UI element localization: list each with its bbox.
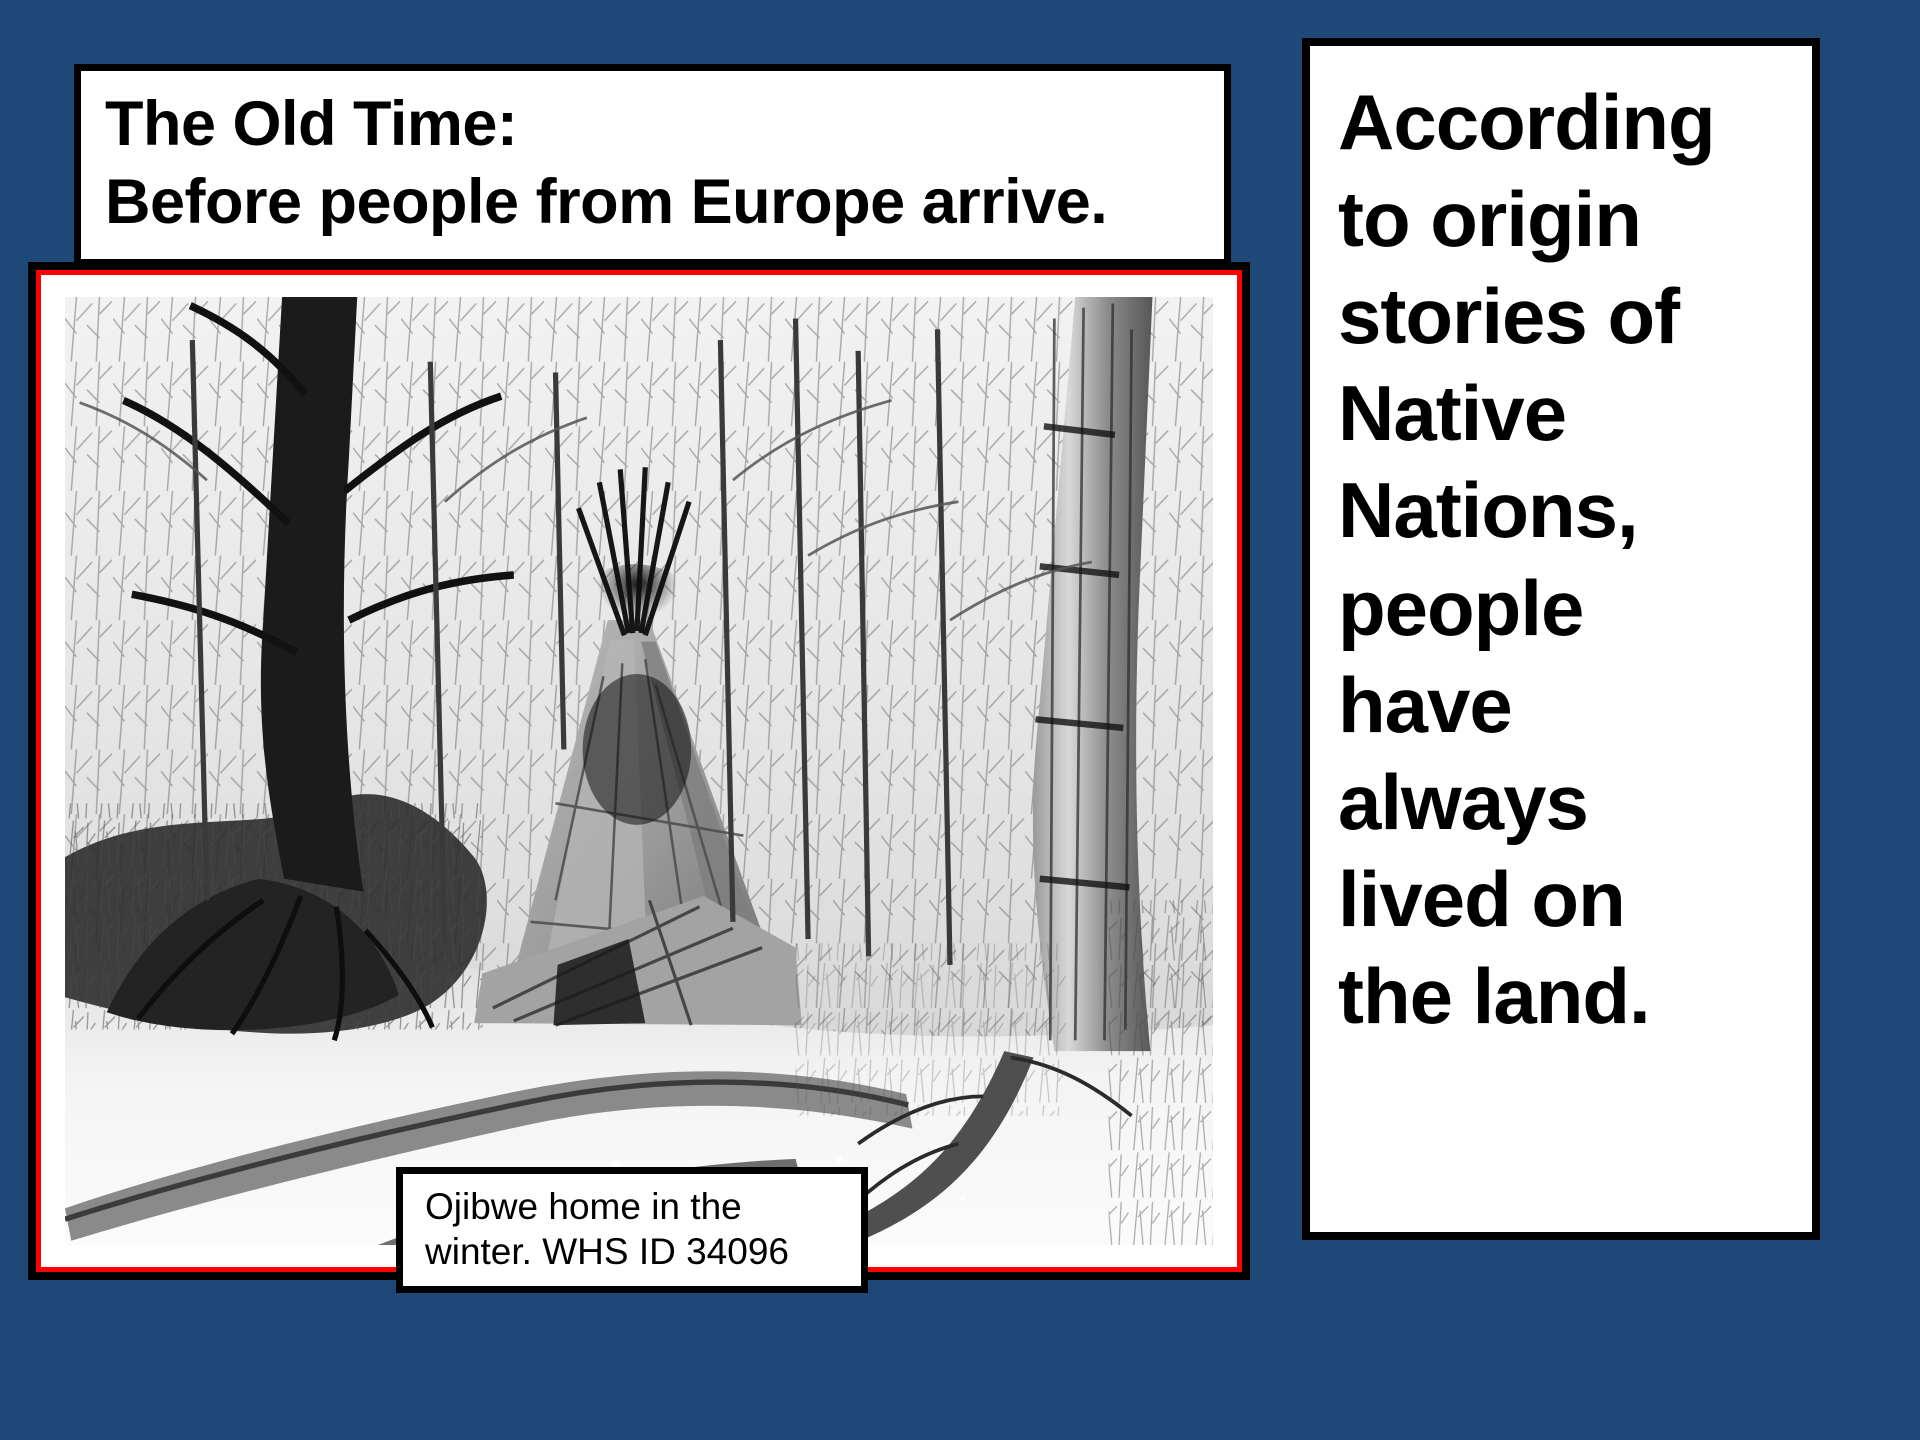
- title-text-box: The Old Time: Before people from Europe …: [74, 64, 1231, 266]
- right-panel-line-6: people: [1338, 560, 1792, 657]
- title-line-1: The Old Time:: [105, 85, 1200, 163]
- winter-forest-wigwam-illustration: [65, 297, 1213, 1245]
- historical-photograph: [65, 297, 1213, 1245]
- right-panel-line-1: According: [1338, 74, 1792, 171]
- right-panel-line-4: Native: [1338, 365, 1792, 462]
- right-panel-line-8: always: [1338, 754, 1792, 851]
- photo-panel: [28, 262, 1250, 1280]
- photo-caption-box: Ojibwe home in the winter. WHS ID 34096: [396, 1167, 868, 1293]
- right-panel-line-10: the land.: [1338, 948, 1792, 1045]
- title-line-2: Before people from Europe arrive.: [105, 163, 1200, 241]
- caption-line-1: Ojibwe home in the: [425, 1184, 845, 1229]
- slide-canvas: The Old Time: Before people from Europe …: [0, 0, 1920, 1440]
- right-panel-line-2: to origin: [1338, 171, 1792, 268]
- right-text-panel: According to origin stories of Native Na…: [1302, 38, 1820, 1240]
- photo-white-mat: [41, 275, 1237, 1267]
- right-panel-line-5: Nations,: [1338, 462, 1792, 559]
- right-panel-line-9: lived on: [1338, 851, 1792, 948]
- caption-line-2: winter. WHS ID 34096: [425, 1229, 845, 1274]
- right-panel-line-7: have: [1338, 657, 1792, 754]
- right-panel-line-3: stories of: [1338, 268, 1792, 365]
